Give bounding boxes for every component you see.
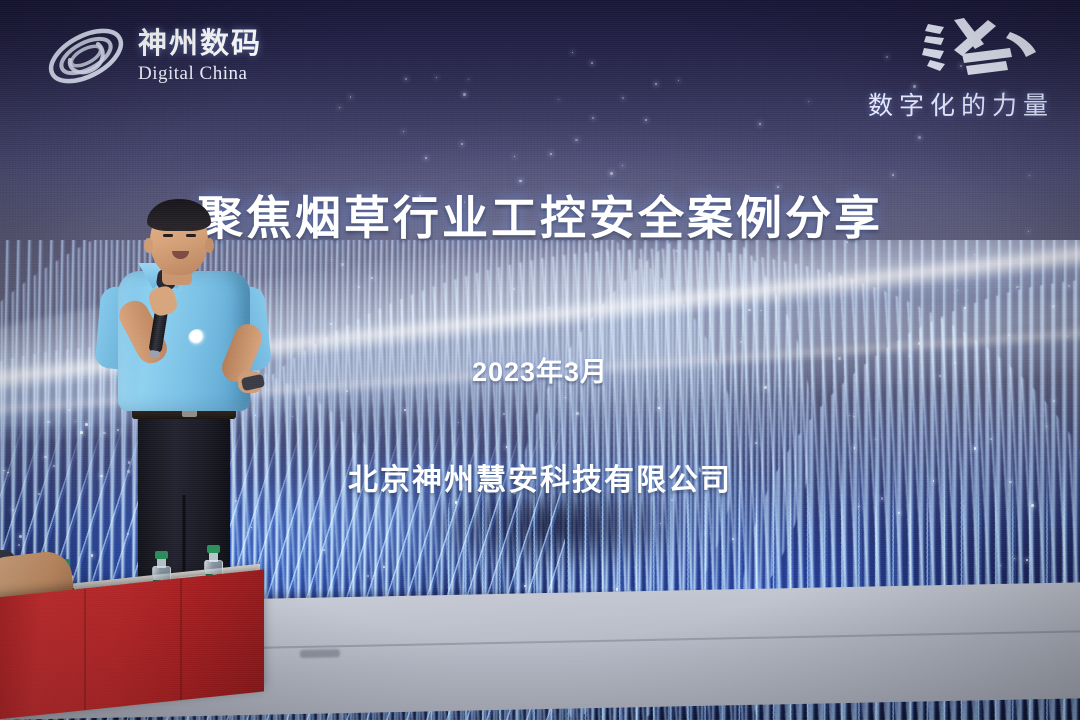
event-tagline: 数字化的力量 [868,86,1054,122]
speaker-ear-left [144,238,153,253]
microphone-tip [149,350,161,359]
speaker-eyebrow-right [185,227,197,230]
digital-china-swirl-icon [44,20,128,92]
event-logo: 数字化的力量 [868,14,1054,122]
speaker-ear-right [205,238,214,253]
logo-name-en: Digital China [138,64,262,83]
foreground-table [0,570,264,720]
conference-photo: 神州数码 Digital China 数字化的力量 聚焦烟草行业工控安全案例分享… [0,0,1080,720]
floor-mark [300,649,340,658]
digital-china-logo: 神州数码 Digital China [44,20,262,92]
juhe-calligraphy-icon [914,14,1054,84]
speaker-figure [92,195,292,615]
red-tablecloth [0,569,264,720]
speaker-eye-right [186,234,196,237]
speaker-hair [147,199,211,231]
shirt-logo [188,329,208,347]
logo-name-cn: 神州数码 [138,30,262,59]
speaker-eyebrow-left [162,227,174,230]
speaker-eye-left [163,234,173,237]
